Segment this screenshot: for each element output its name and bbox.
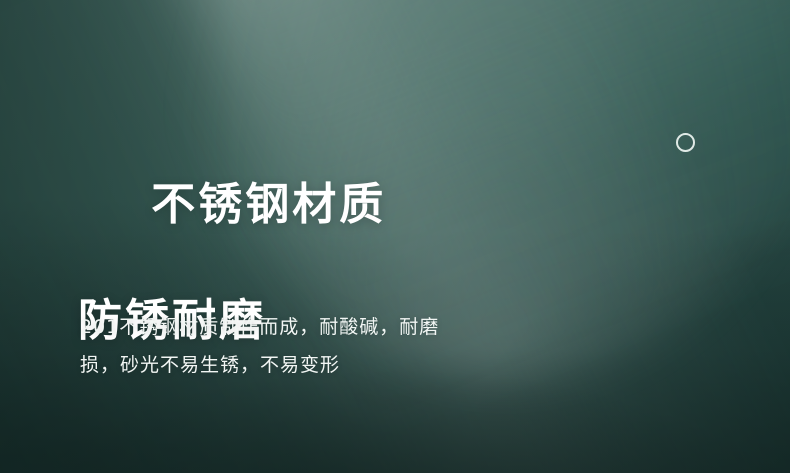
ring-circle-icon: [676, 133, 695, 152]
subcopy-line-2: 损，砂光不易生锈，不易变形: [80, 346, 600, 384]
subcopy-line-1: 201不锈钢材质制作而成，耐酸碱，耐磨: [80, 308, 600, 346]
headline: 不锈钢材质 防锈耐磨: [78, 118, 386, 466]
headline-line-1: 不锈钢材质: [151, 179, 386, 230]
product-feature-banner: 不锈钢材质 防锈耐磨 201不锈钢材质制作而成，耐酸碱，耐磨 损，砂光不易生锈，…: [0, 0, 790, 473]
subcopy: 201不锈钢材质制作而成，耐酸碱，耐磨 损，砂光不易生锈，不易变形: [80, 308, 600, 384]
